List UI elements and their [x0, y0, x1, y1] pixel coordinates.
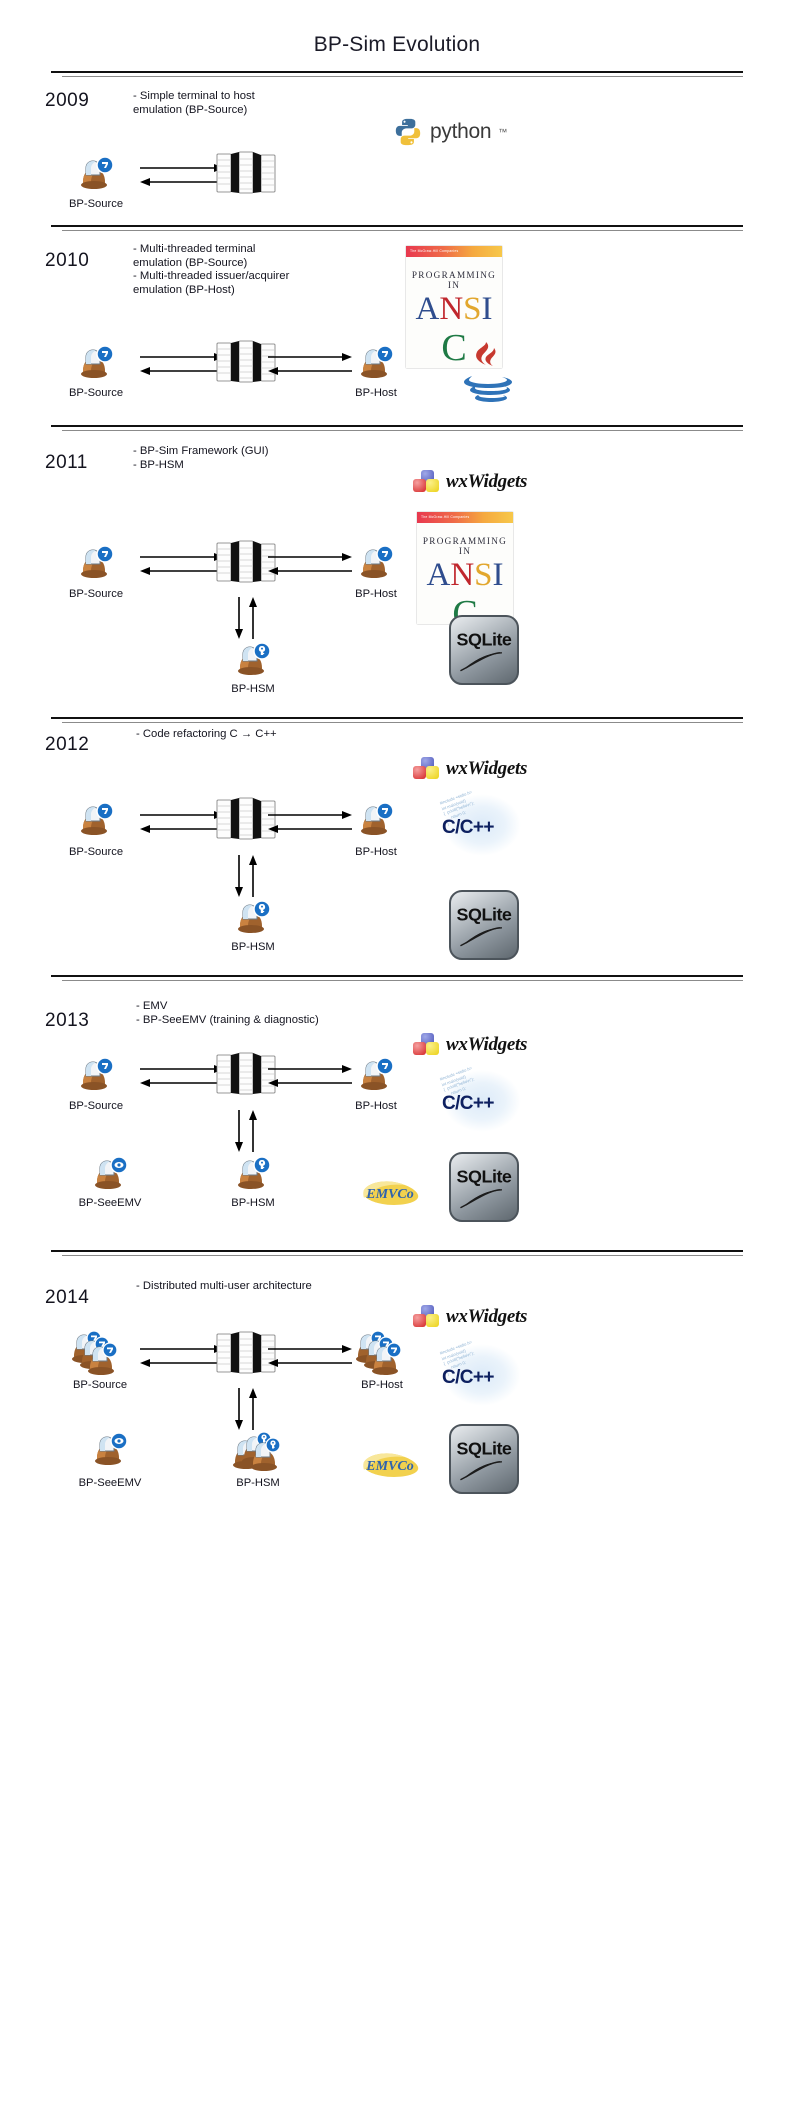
- book-letter-a: A: [426, 557, 450, 593]
- actor-bp-source-2013: [74, 1053, 118, 1093]
- divider-thick-line: [51, 225, 743, 227]
- arrows-source-server-2013: [140, 1064, 224, 1090]
- wx-square-yellow: [426, 1042, 439, 1055]
- year-label-2014: 2014: [45, 1287, 89, 1309]
- logo-sqlite-2013: SQLite: [449, 1152, 519, 1222]
- arrows-source-server-2014: [140, 1344, 224, 1370]
- ccpp-wordmark: C/C++: [442, 1093, 494, 1115]
- logo-java: [452, 340, 522, 404]
- section-divider-2014: [51, 1250, 743, 1256]
- python-icon: [393, 117, 423, 147]
- arrows-source-server-2010: [140, 352, 224, 378]
- book-subtitle: PROGRAMMING IN: [406, 270, 502, 290]
- logo-ccpp-2013: #include <stdio.h> int main(void) { prin…: [435, 1066, 533, 1136]
- logo-wxwidgets-2013: wxWidgets: [413, 1033, 527, 1057]
- ccpp-wordmark: C/C++: [442, 817, 494, 839]
- node-label-bp-seeemv-2014: BP-SeeEMV: [79, 1477, 142, 1489]
- book-banner: The McGraw-Hill Companies: [406, 246, 502, 257]
- wx-square-red: [413, 1042, 426, 1055]
- divider-thin-line: [62, 980, 743, 981]
- book-letter-s: S: [463, 291, 481, 327]
- divider-thin-line: [62, 76, 743, 77]
- divider-thin-line: [62, 430, 743, 431]
- wx-square-yellow: [426, 479, 439, 492]
- book-banner: The McGraw-Hill Companies: [417, 512, 513, 523]
- actor-bp-source-2011: [74, 541, 118, 581]
- actor-bp-seeemv-2014: [88, 1428, 132, 1468]
- logo-wxwidgets-2011: wxWidgets: [413, 470, 527, 494]
- book-title-ansi: ANSI: [406, 292, 502, 326]
- divider-thin-line: [62, 1255, 743, 1256]
- wxwidgets-wordmark: wxWidgets: [446, 471, 527, 493]
- node-label-bp-hsm-2012: BP-HSM: [231, 941, 275, 953]
- year-label-2013: 2013: [45, 1010, 89, 1032]
- divider-thick-line: [51, 71, 743, 73]
- arrows-server-host-2010: [268, 352, 352, 378]
- svg-text:SQLite: SQLite: [457, 629, 512, 649]
- arrows-server-hsm-2013: [233, 1110, 259, 1152]
- bullets-2013: - EMV - BP-SeeEMV (training & diagnostic…: [136, 1000, 436, 1027]
- node-label-bp-source-2009: BP-Source: [69, 198, 123, 210]
- arrows-server-host-2011: [268, 552, 352, 578]
- actor-bp-source-2012: [74, 798, 118, 838]
- bullets-2010: - Multi-threaded terminal emulation (BP-…: [133, 243, 393, 297]
- wx-square-red: [413, 479, 426, 492]
- book-subtitle: PROGRAMMING IN: [417, 536, 513, 556]
- divider-thick-line: [51, 717, 743, 719]
- bullets-2014: - Distributed multi-user architecture: [136, 1280, 436, 1294]
- svg-text:EMVCo: EMVCo: [365, 1187, 413, 1202]
- logo-ccpp-2014: #include <stdio.h> int main(void) { prin…: [435, 1340, 533, 1410]
- python-trademark: ™: [498, 127, 507, 137]
- logo-emvco-2014: EMVCo: [356, 1448, 424, 1482]
- divider-thick-line: [51, 975, 743, 977]
- svg-text:SQLite: SQLite: [457, 1166, 512, 1186]
- year-label-2009: 2009: [45, 90, 89, 112]
- wxwidgets-icon: [413, 1033, 440, 1057]
- actor-bp-hsm-2013: [231, 1152, 275, 1192]
- year-label-2011: 2011: [45, 452, 88, 474]
- divider-thin-line: [62, 722, 743, 723]
- arrows-server-host-2014: [268, 1344, 352, 1370]
- logo-wxwidgets-2012: wxWidgets: [413, 757, 527, 781]
- ccpp-wordmark: C/C++: [442, 1367, 494, 1389]
- divider-thin-line: [62, 230, 743, 231]
- node-label-bp-host-2010: BP-Host: [355, 387, 397, 399]
- actor-bp-host-2013: [354, 1053, 398, 1093]
- actor-bp-hsm-cluster-2014: [226, 1424, 288, 1476]
- node-label-bp-hsm-2013: BP-HSM: [231, 1197, 275, 1209]
- wx-square-red: [413, 766, 426, 779]
- actor-bp-hsm-2012: [231, 896, 275, 936]
- logo-ccpp-2012: #include <stdio.h> int main(void) { prin…: [435, 790, 533, 860]
- wxwidgets-icon: [413, 470, 440, 494]
- wxwidgets-wordmark: wxWidgets: [446, 1306, 527, 1328]
- server-stack-2009: [215, 150, 277, 198]
- wxwidgets-icon: [413, 1305, 440, 1329]
- book-title-ansi: ANSI: [417, 558, 513, 592]
- actor-bp-seeemv-2013: [88, 1152, 132, 1192]
- node-label-bp-source-2013: BP-Source: [69, 1100, 123, 1112]
- logo-ansi-c-book-2011: The McGraw-Hill Companies PROGRAMMING IN…: [417, 512, 513, 624]
- logo-sqlite-2012: SQLite: [449, 890, 519, 960]
- book-letter-n: N: [450, 557, 474, 593]
- book-letter-s: S: [474, 557, 492, 593]
- node-label-bp-host-2013: BP-Host: [355, 1100, 397, 1112]
- bp-sim-evolution-slide: BP-Sim Evolution 2009 - Simple terminal …: [0, 0, 794, 2117]
- logo-python: python ™: [393, 117, 507, 147]
- book-letter-n: N: [439, 291, 463, 327]
- divider-thick-line: [51, 1250, 743, 1252]
- book-letter-i: I: [482, 291, 493, 327]
- wxwidgets-icon: [413, 757, 440, 781]
- arrows-server-hsm-2012: [233, 855, 259, 897]
- logo-sqlite-2014: SQLite: [449, 1424, 519, 1494]
- page-title: BP-Sim Evolution: [0, 33, 794, 57]
- arrows-source-server-2012: [140, 810, 224, 836]
- actor-bp-source-2009: [74, 152, 118, 192]
- arrows-server-host-2013: [268, 1064, 352, 1090]
- logo-emvco-2013: EMVCo: [356, 1176, 424, 1210]
- wx-square-yellow: [426, 766, 439, 779]
- actor-bp-host-2010: [354, 341, 398, 381]
- python-wordmark: python: [430, 120, 491, 144]
- wx-square-red: [413, 1314, 426, 1327]
- arrows-source-server-2009: [140, 163, 224, 189]
- logo-wxwidgets-2014: wxWidgets: [413, 1305, 527, 1329]
- actor-bp-host-2011: [354, 541, 398, 581]
- node-label-bp-host-2014: BP-Host: [361, 1379, 403, 1391]
- actor-bp-host-2012: [354, 798, 398, 838]
- node-label-bp-source-2014: BP-Source: [73, 1379, 127, 1391]
- section-divider-2009: [51, 71, 743, 77]
- arrows-server-hsm-2011: [233, 597, 259, 639]
- arrows-source-server-2011: [140, 552, 224, 578]
- wxwidgets-wordmark: wxWidgets: [446, 1034, 527, 1056]
- logo-sqlite-2011: SQLite: [449, 615, 519, 685]
- svg-text:EMVCo: EMVCo: [365, 1459, 413, 1474]
- wx-square-yellow: [426, 1314, 439, 1327]
- node-label-bp-seeemv-2013: BP-SeeEMV: [79, 1197, 142, 1209]
- wxwidgets-wordmark: wxWidgets: [446, 758, 527, 780]
- bullets-2012: - Code refactoring C → C++: [136, 728, 416, 742]
- svg-text:SQLite: SQLite: [457, 1438, 512, 1458]
- actor-bp-hsm-2011: [231, 638, 275, 678]
- node-label-bp-source-2010: BP-Source: [69, 387, 123, 399]
- actor-bp-source-2010: [74, 341, 118, 381]
- node-label-bp-hsm-2014: BP-HSM: [236, 1477, 280, 1489]
- actor-bp-host-cluster-2014: [349, 1326, 411, 1378]
- node-label-bp-host-2011: BP-Host: [355, 588, 397, 600]
- arrows-server-host-2012: [268, 810, 352, 836]
- section-divider-2010: [51, 225, 743, 231]
- year-label-2012: 2012: [45, 734, 89, 756]
- svg-text:SQLite: SQLite: [457, 904, 512, 924]
- bullets-2011: - BP-Sim Framework (GUI) - BP-HSM: [133, 445, 393, 472]
- section-divider-2012: [51, 717, 743, 723]
- bullets-2009: - Simple terminal to host emulation (BP-…: [133, 90, 383, 117]
- divider-thick-line: [51, 425, 743, 427]
- section-divider-2013: [51, 975, 743, 981]
- node-label-bp-source-2012: BP-Source: [69, 846, 123, 858]
- book-letter-a: A: [415, 291, 439, 327]
- node-label-bp-source-2011: BP-Source: [69, 588, 123, 600]
- actor-bp-source-cluster-2014: [65, 1326, 127, 1378]
- book-letter-i: I: [493, 557, 504, 593]
- section-divider-2011: [51, 425, 743, 431]
- year-label-2010: 2010: [45, 250, 89, 272]
- node-label-bp-hsm-2011: BP-HSM: [231, 683, 275, 695]
- node-label-bp-host-2012: BP-Host: [355, 846, 397, 858]
